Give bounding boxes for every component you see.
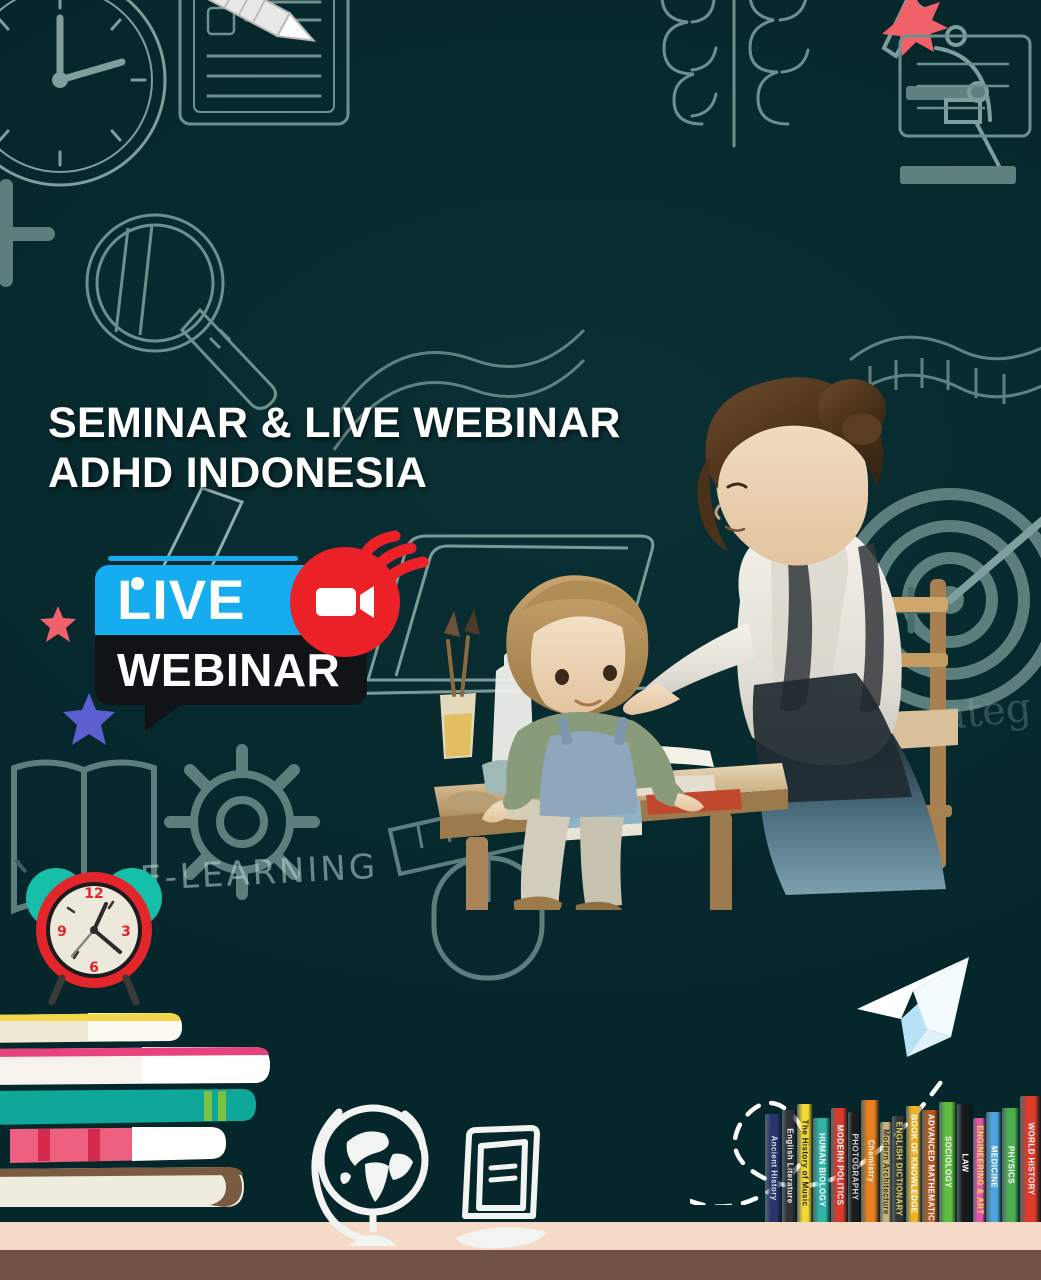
book-spine-title: PHYSICS (1007, 1112, 1016, 1218)
book-spine[interactable]: MEDICINE (986, 1112, 1002, 1222)
book-spine[interactable]: LAW (957, 1104, 973, 1222)
book-spine[interactable]: Ancient History (765, 1114, 782, 1222)
book-spine-title: HUMAN BIOLOGY (818, 1122, 827, 1218)
shelf-front-edge (0, 1250, 1041, 1280)
book-spine[interactable]: English Literature (782, 1110, 797, 1222)
book-spine-title: PHOTOGRAPHY (850, 1116, 859, 1218)
book-stack (0, 1007, 272, 1222)
svg-text:9: 9 (57, 924, 67, 940)
poster-canvas: E-LEARNING rateg (0, 0, 1041, 1280)
book-spine-title: Modern Architecture (882, 1126, 891, 1218)
bookshelf: Ancient HistoryEnglish LiteratureThe His… (765, 1096, 1041, 1222)
badge-white-dot (131, 577, 144, 590)
book-spine-title: ENGINEERING & ART (975, 1122, 984, 1218)
book-spine-title: English Literature (785, 1114, 794, 1218)
book-spine[interactable]: PHOTOGRAPHY (848, 1112, 861, 1222)
book-spine[interactable]: HUMAN BIOLOGY (813, 1118, 831, 1222)
book-spine[interactable]: The History of Music (797, 1104, 813, 1222)
badge-webinar-label: WEBINAR (117, 647, 340, 693)
book-spine[interactable]: BOOK OF KNOWLEDGE (906, 1106, 922, 1222)
book-spine-title: The History of Music (801, 1108, 810, 1218)
book-stack-item (0, 1089, 256, 1125)
book-spine[interactable]: Modern Architecture (880, 1122, 892, 1222)
book-spine-title: MEDICINE (990, 1116, 999, 1218)
page-title: SEMINAR & LIVE WEBINAR ADHD INDONESIA (48, 398, 621, 499)
book-spine-title: ENGLISH DICTIONARY (895, 1120, 904, 1218)
book-spine[interactable]: WORLD HISTORY (1020, 1096, 1041, 1222)
red-star-icon (38, 604, 78, 644)
book-spine-title: LAW (961, 1108, 970, 1218)
svg-text:6: 6 (89, 960, 99, 976)
child-figure (482, 575, 704, 910)
book-spine-title: SOCIOLOGY (944, 1106, 953, 1218)
open-book-icon (445, 1122, 555, 1250)
book-spine[interactable]: ENGINEERING & ART (973, 1118, 986, 1222)
book-spine[interactable]: ENGLISH DICTIONARY (892, 1116, 906, 1222)
book-spine-title: BOOK OF KNOWLEDGE (910, 1110, 919, 1218)
video-camera-icon (314, 582, 376, 622)
book-spine-title: ADVANCED MATHEMATICS (926, 1114, 935, 1218)
book-spine-title: MODERN POLITICS (835, 1112, 844, 1218)
book-spine[interactable]: ADVANCED MATHEMATICS (922, 1110, 939, 1222)
book-spine-title: WORLD HISTORY (1026, 1100, 1035, 1218)
svg-text:12: 12 (84, 886, 103, 902)
badge-blue-underline (108, 556, 298, 561)
alarm-clock: 12 3 6 9 (10, 860, 180, 1015)
svg-text:3: 3 (121, 924, 131, 940)
title-line-2: ADHD INDONESIA (48, 448, 621, 498)
paper-plane-icon (855, 955, 975, 1065)
book-spine-title: Ancient History (769, 1118, 778, 1218)
title-line-1: SEMINAR & LIVE WEBINAR (48, 398, 621, 448)
video-camera-button[interactable] (290, 547, 400, 657)
book-spine[interactable]: Chemistry (861, 1100, 880, 1222)
book-spine-title: Chemistry (866, 1104, 875, 1218)
book-spine[interactable]: SOCIOLOGY (939, 1102, 957, 1222)
badge-speech-tail (145, 701, 187, 731)
globe-icon (305, 1098, 445, 1248)
book-spine[interactable]: PHYSICS (1002, 1108, 1020, 1222)
book-spine[interactable]: MODERN POLITICS (831, 1108, 848, 1222)
